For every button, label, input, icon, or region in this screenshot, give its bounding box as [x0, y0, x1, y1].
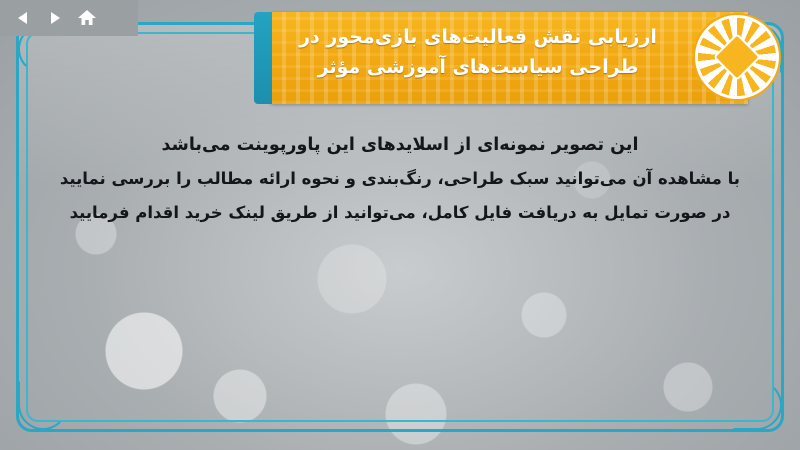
body-line: این تصویر نمونه‌ای از اسلایدهای این پاور… — [60, 128, 740, 162]
corner-ornament-bottom-left — [18, 372, 76, 430]
corner-ornament-bottom-right — [724, 372, 782, 430]
body-line: با مشاهده آن می‌توانید سبک طراحی، رنگ‌بن… — [60, 162, 740, 196]
navigation-bar — [0, 0, 138, 36]
body-line: در صورت تمایل به دریافت فایل کامل، می‌تو… — [60, 196, 740, 230]
triangle-left-icon[interactable] — [12, 7, 34, 29]
title-line: طراحی سیاست‌های آموزشی مؤثر — [282, 52, 674, 82]
star-rosette-icon — [698, 18, 776, 96]
title-line: ارزیابی نقش فعالیت‌های بازی‌محور در — [282, 22, 674, 52]
slide-canvas: ارزیابی نقش فعالیت‌های بازی‌محور در طراح… — [0, 0, 800, 450]
slide-title: ارزیابی نقش فعالیت‌های بازی‌محور در طراح… — [282, 22, 674, 82]
title-banner: ارزیابی نقش فعالیت‌های بازی‌محور در طراح… — [268, 12, 748, 104]
home-icon[interactable] — [76, 7, 98, 29]
triangle-right-icon[interactable] — [44, 7, 66, 29]
slide-body: این تصویر نمونه‌ای از اسلایدهای این پاور… — [60, 128, 740, 230]
